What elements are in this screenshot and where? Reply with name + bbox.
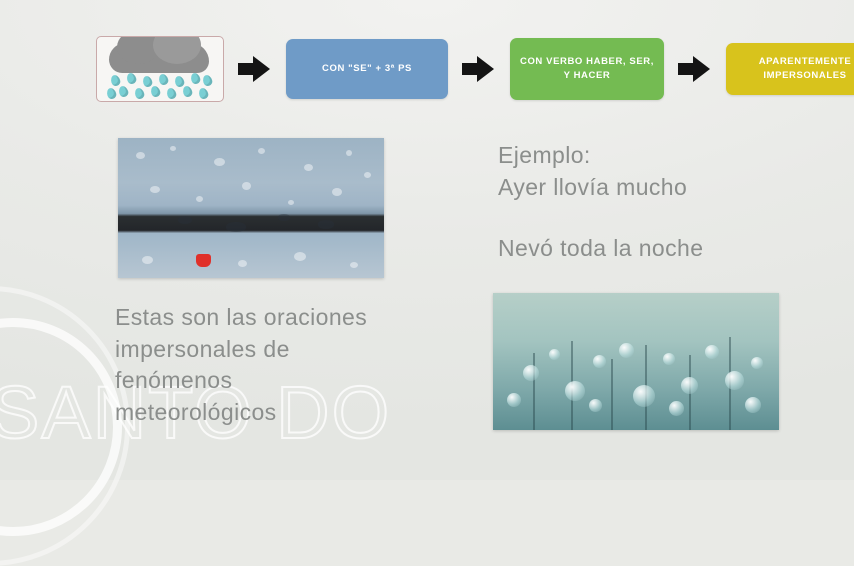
watermark-arc-inner	[0, 318, 122, 536]
dew-drops-photo	[493, 293, 779, 430]
right-arrow-icon-2	[462, 52, 496, 86]
rain-cloud-icon	[96, 36, 224, 102]
right-arrow-icon-3	[678, 52, 712, 86]
slide-canvas: SANTO DO CON "SE" + 3ª P	[0, 0, 854, 480]
flow-step-aparentemente[interactable]: APARENTEMENTE IMPERSONALES	[726, 43, 854, 95]
watermark-arc-outer	[0, 286, 130, 566]
flow-step-se-3ps[interactable]: CON "SE" + 3ª PS	[286, 39, 448, 99]
cloud-shape	[109, 43, 209, 73]
example-heading: Ejemplo: Ayer llovía mucho	[498, 140, 687, 203]
process-flow: CON "SE" + 3ª PS CON VERBO HABER, SER, Y…	[96, 36, 854, 102]
caption-text: Estas son las oraciones impersonales de …	[115, 302, 367, 429]
raindrops-group	[107, 73, 213, 99]
right-arrow-icon-1	[238, 52, 272, 86]
example-second-line: Nevó toda la noche	[498, 233, 703, 265]
flow-step-verbo[interactable]: CON VERBO HABER, SER, Y HACER	[510, 38, 664, 100]
red-marker	[196, 254, 211, 267]
rainy-window-photo	[118, 138, 384, 278]
